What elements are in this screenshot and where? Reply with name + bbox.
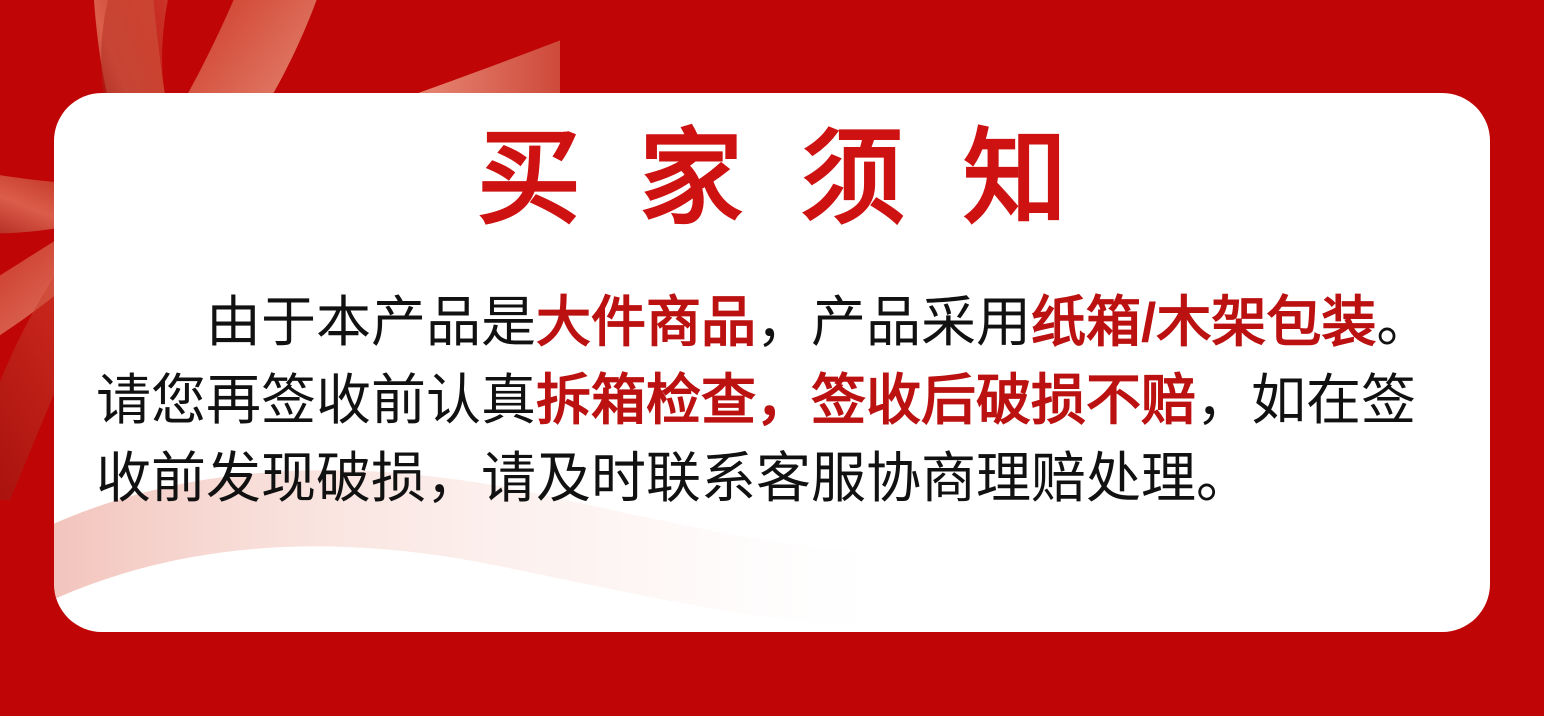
notice-highlight-text: 大件商品 xyxy=(536,291,756,353)
notice-plain-text: 。 xyxy=(1376,291,1431,353)
page-title: 买家须知 xyxy=(54,121,1490,237)
notice-highlight-text: 纸箱/木架包装 xyxy=(1031,291,1376,353)
notice-plain-text: 由于本产品是 xyxy=(206,291,536,353)
notice-line: 由于本产品是大件商品，产品采用纸箱/木架包装。 xyxy=(96,283,1452,361)
notice-plain-text: ，产品采用 xyxy=(756,291,1031,353)
notice-highlight-text: 拆箱检查，签收后破损不赔 xyxy=(536,369,1196,431)
notice-line: 收前发现破损，请及时联系客服协商理赔处理。 xyxy=(96,439,1452,517)
notice-card: 买家须知 由于本产品是大件商品，产品采用纸箱/木架包装。请您再签收前认真拆箱检查… xyxy=(54,93,1490,632)
notice-line: 请您再签收前认真拆箱检查，签收后破损不赔，如在签 xyxy=(96,361,1452,439)
notice-plain-text: 请您再签收前认真 xyxy=(96,369,536,431)
notice-body: 由于本产品是大件商品，产品采用纸箱/木架包装。请您再签收前认真拆箱检查，签收后破… xyxy=(96,283,1452,517)
buyer-notice-banner: 买家须知 由于本产品是大件商品，产品采用纸箱/木架包装。请您再签收前认真拆箱检查… xyxy=(0,0,1544,716)
notice-plain-text: ，如在签 xyxy=(1196,369,1416,431)
notice-plain-text: 收前发现破损，请及时联系客服协商理赔处理。 xyxy=(96,447,1251,509)
